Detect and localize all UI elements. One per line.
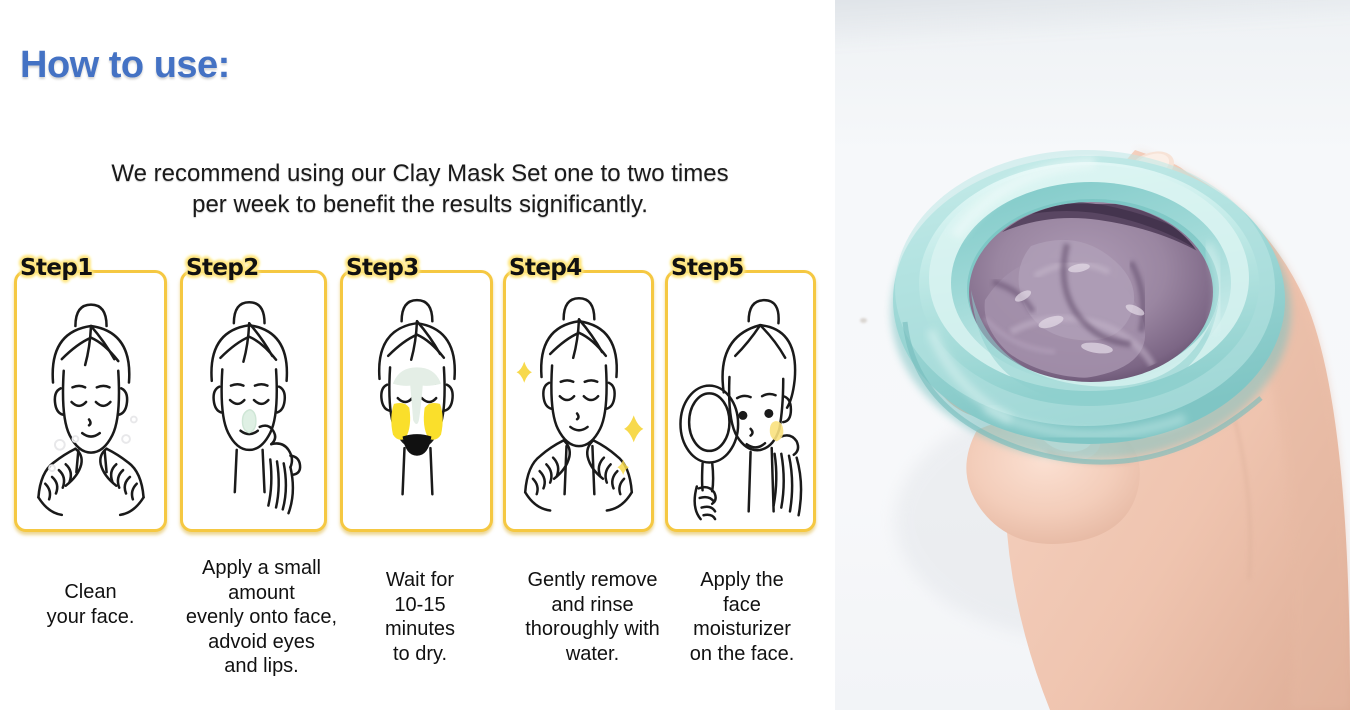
step-badge-5: Step5 xyxy=(671,255,744,281)
step-card-1: Step1 xyxy=(14,270,167,532)
intro-line-2: per week to benefit the results signific… xyxy=(40,189,800,220)
woman-waiting-with-mask-icon xyxy=(343,273,490,529)
steps-row: Step1 xyxy=(0,258,835,533)
intro-line-1: We recommend using our Clay Mask Set one… xyxy=(40,158,800,189)
step-card-2: Step2 xyxy=(180,270,327,532)
step-card-4: Step4 xyxy=(503,270,654,532)
step-card-5: Step5 xyxy=(665,270,816,532)
woman-with-mirror-moisturizing-icon xyxy=(668,273,813,529)
step-caption-2: Apply a small amount evenly onto face, a… xyxy=(174,556,349,679)
step-caption-1: Clean your face. xyxy=(8,580,173,629)
step-badge-1: Step1 xyxy=(20,255,93,281)
step-caption-5: Apply the face moisturizer on the face. xyxy=(672,568,812,666)
step-caption-3: Wait for 10-15 minutes to dry. xyxy=(350,568,490,666)
product-photo xyxy=(835,0,1350,710)
step-badge-4: Step4 xyxy=(509,255,582,281)
step-badge-2: Step2 xyxy=(186,255,259,281)
instructions-panel: How to use: We recommend using our Clay … xyxy=(0,0,835,710)
step-badge-3: Step3 xyxy=(346,255,419,281)
woman-applying-mask-to-nose-icon xyxy=(183,273,324,529)
page-title: How to use: xyxy=(20,44,230,87)
woman-washing-face-icon xyxy=(17,273,164,529)
intro-text: We recommend using our Clay Mask Set one… xyxy=(40,158,800,220)
woman-rinsing-face-icon xyxy=(506,273,651,529)
hand-holding-jar-illustration xyxy=(835,0,1350,710)
step-card-3: Step3 xyxy=(340,270,493,532)
step-caption-4: Gently remove and rinse thoroughly with … xyxy=(500,568,685,666)
